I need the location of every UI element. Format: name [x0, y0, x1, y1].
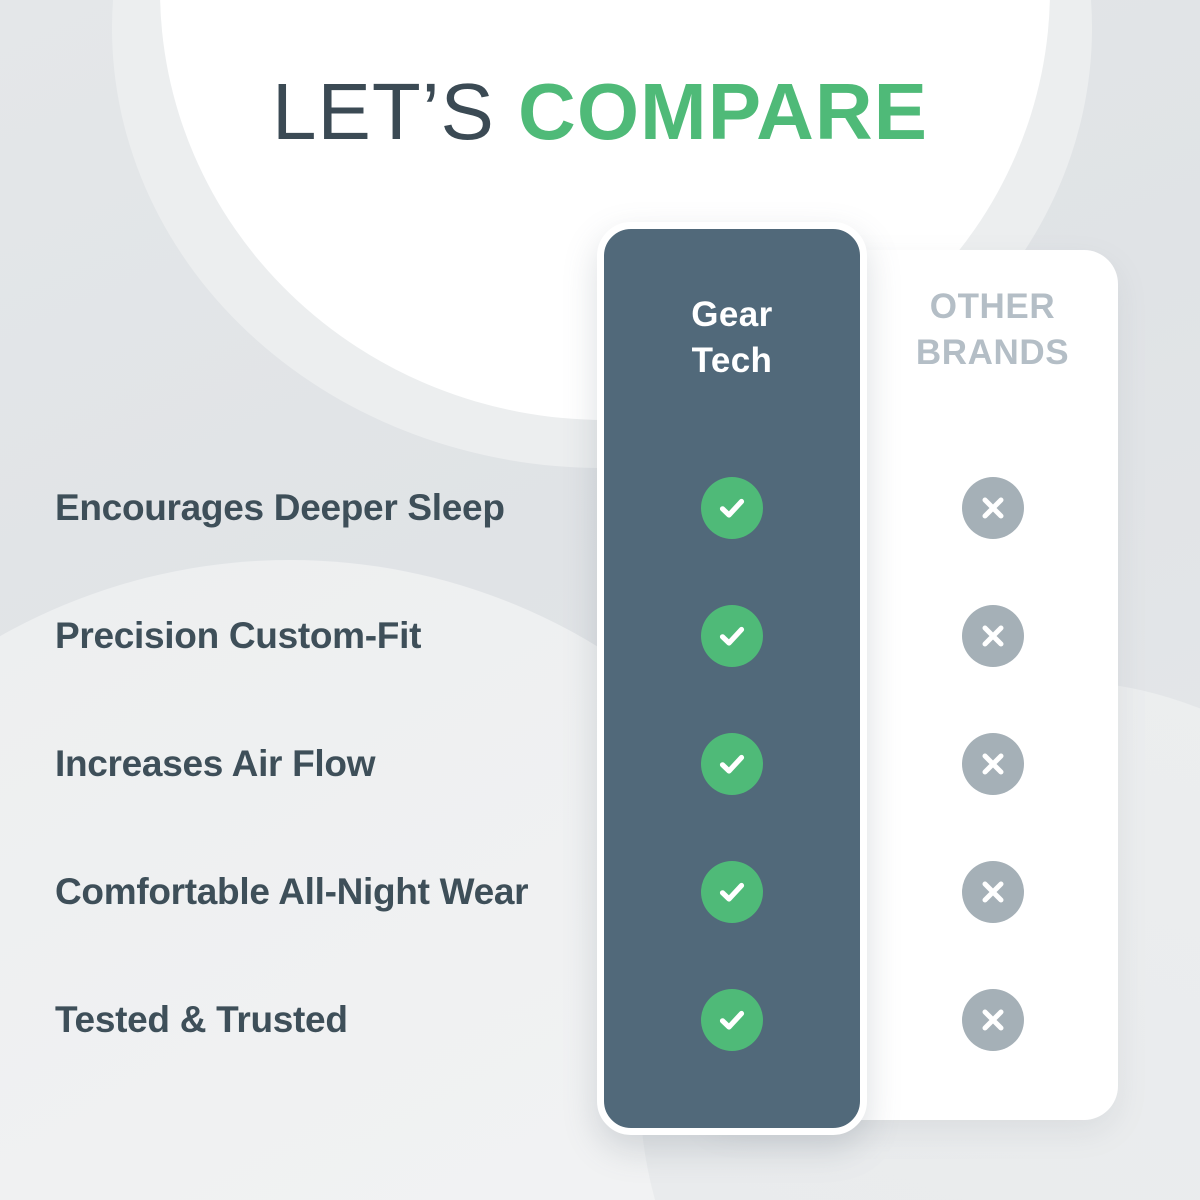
cross-icon — [962, 477, 1024, 539]
check-icon — [701, 605, 763, 667]
feature-label: Precision Custom-Fit — [55, 604, 421, 668]
table-row: Tested & Trusted — [0, 988, 1200, 1052]
cross-icon — [962, 989, 1024, 1051]
check-icon — [701, 989, 763, 1051]
feature-label: Comfortable All-Night Wear — [55, 860, 528, 924]
feature-label: Encourages Deeper Sleep — [55, 476, 505, 540]
cross-icon — [962, 733, 1024, 795]
feature-label: Increases Air Flow — [55, 732, 375, 796]
comparison-rows: Encourages Deeper Sleep Precision Custom… — [0, 0, 1200, 1200]
comparison-graphic: LET’S COMPARE Gear Tech OTHER BRANDS Enc… — [0, 0, 1200, 1200]
check-icon — [701, 733, 763, 795]
check-icon — [701, 477, 763, 539]
table-row: Increases Air Flow — [0, 732, 1200, 796]
cross-icon — [962, 605, 1024, 667]
check-icon — [701, 861, 763, 923]
table-row: Comfortable All-Night Wear — [0, 860, 1200, 924]
table-row: Encourages Deeper Sleep — [0, 476, 1200, 540]
cross-icon — [962, 861, 1024, 923]
table-row: Precision Custom-Fit — [0, 604, 1200, 668]
feature-label: Tested & Trusted — [55, 988, 348, 1052]
